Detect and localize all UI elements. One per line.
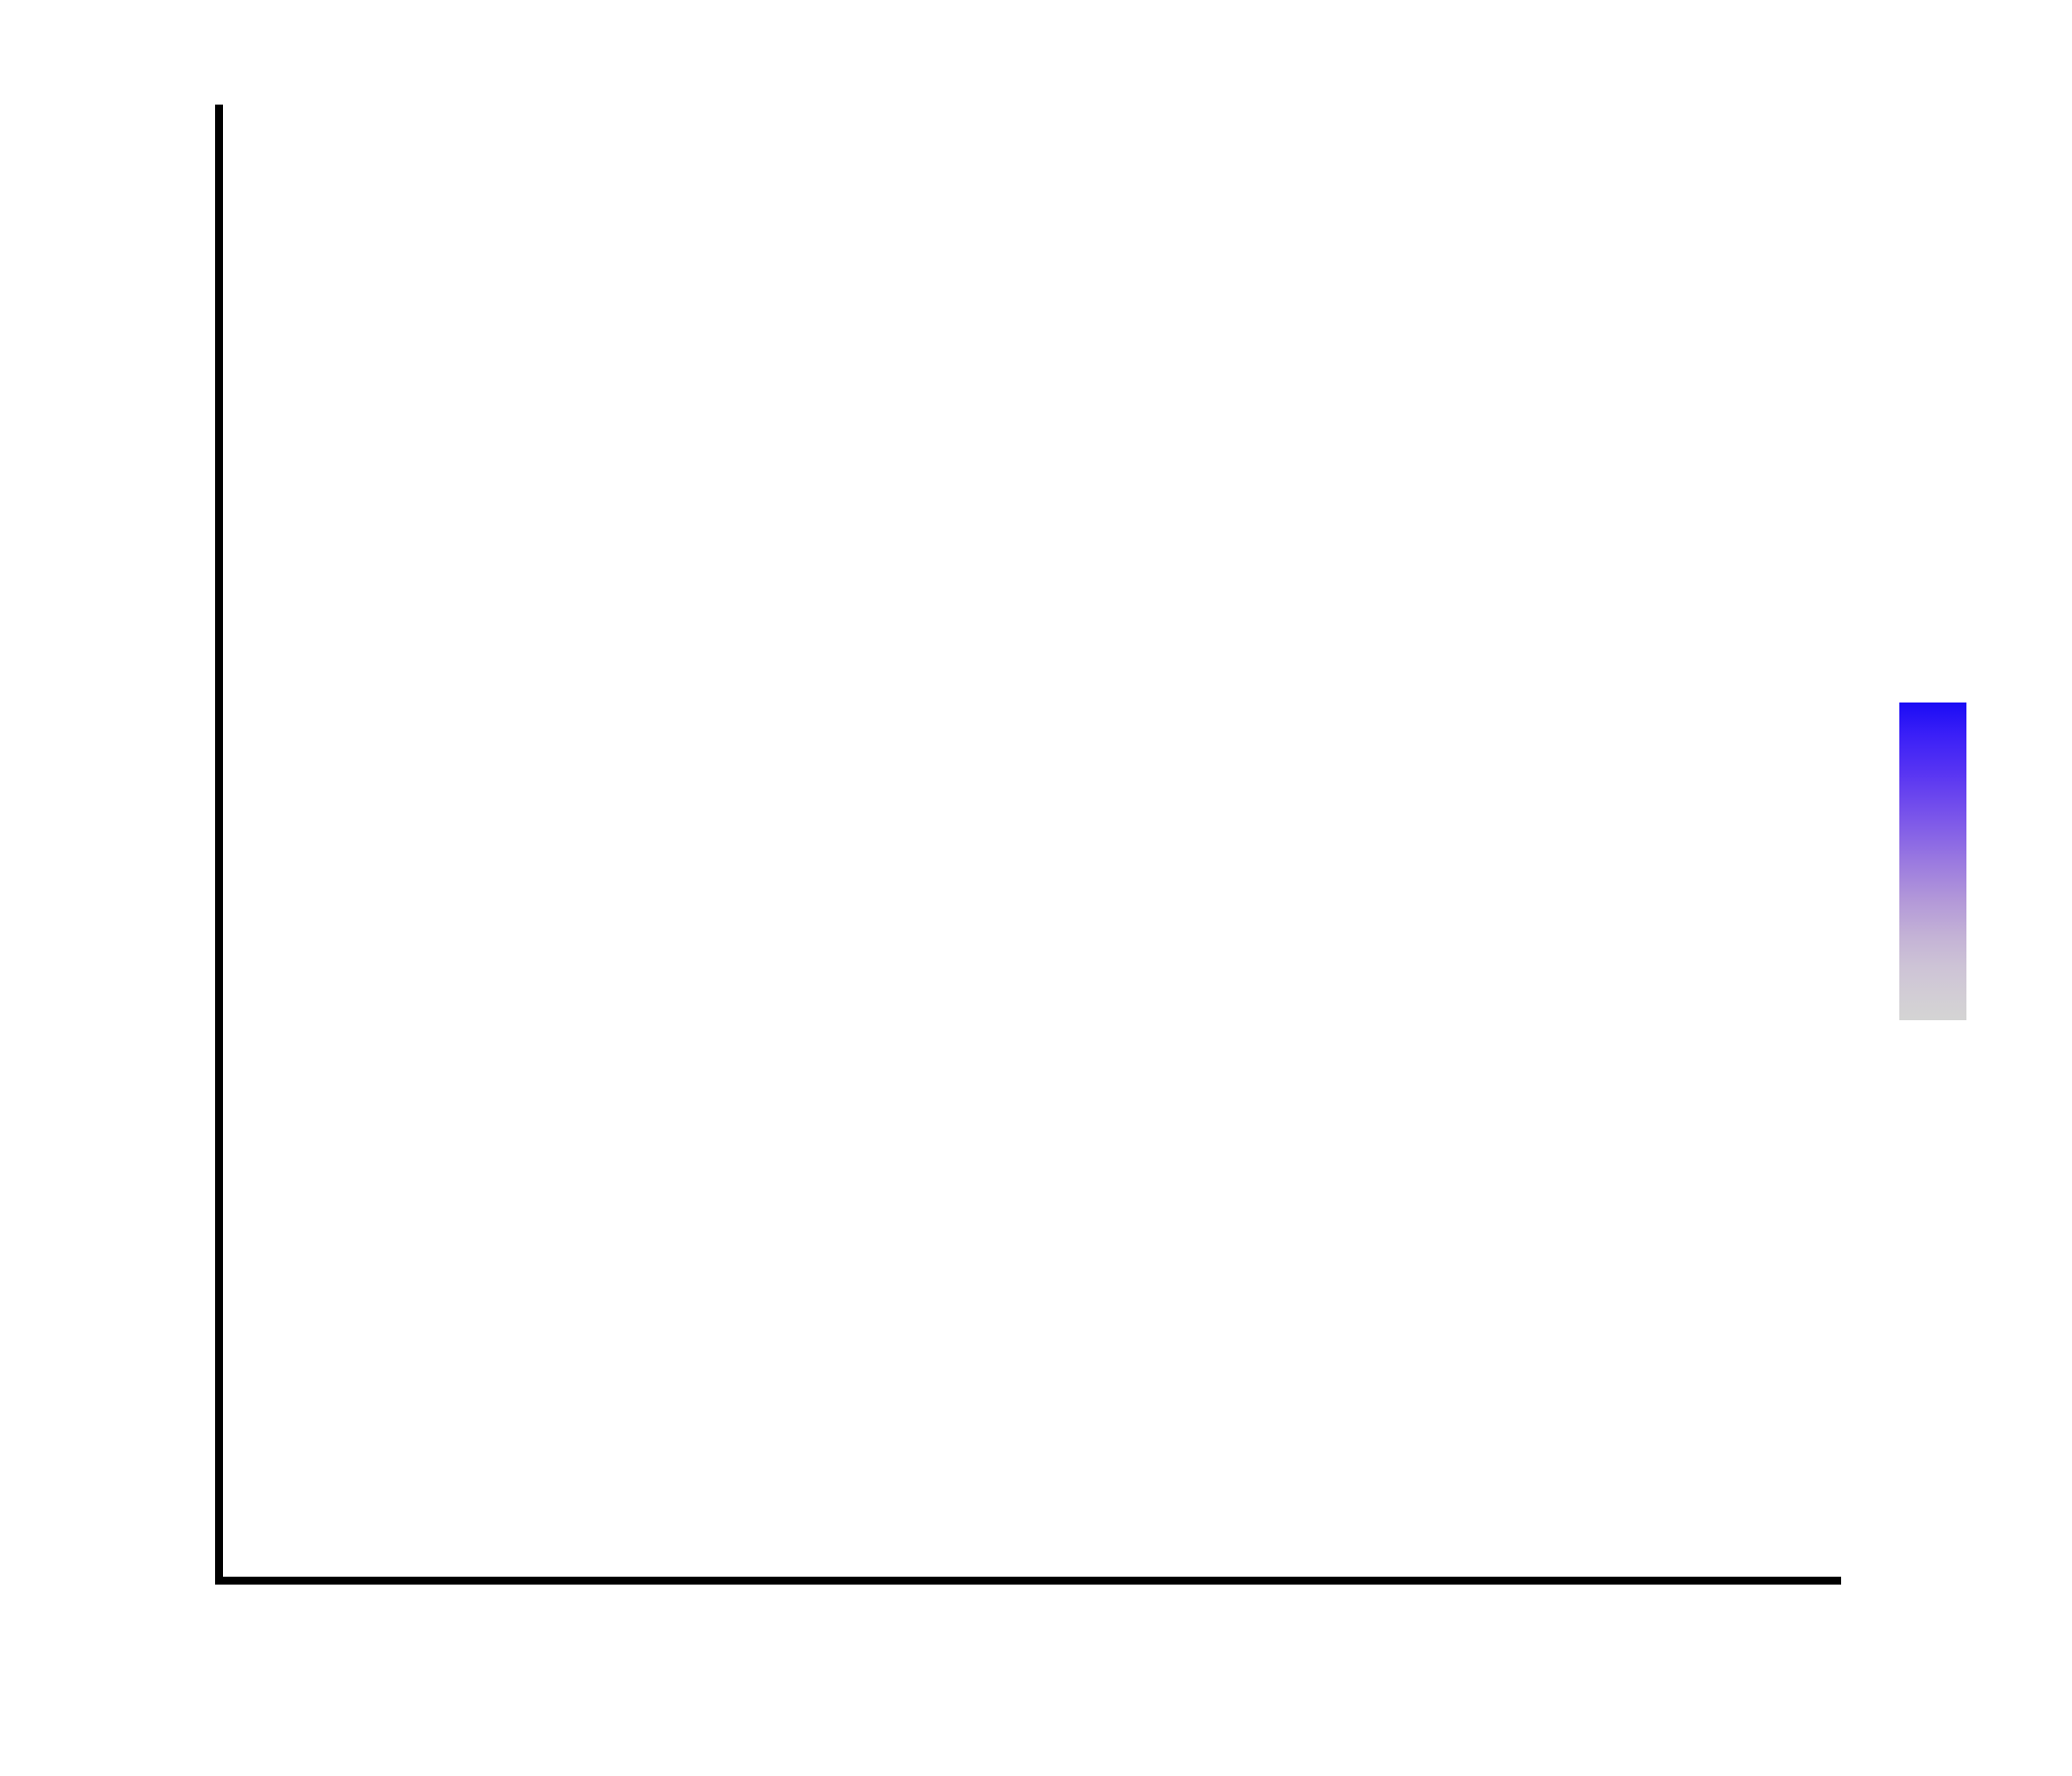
scatter-points-canvas	[223, 105, 1841, 1577]
y-axis-line	[215, 105, 223, 1585]
colorbar-gradient	[1899, 703, 1966, 1020]
x-axis-line	[215, 1577, 1841, 1585]
colorbar-legend	[1899, 703, 2047, 1024]
page-title	[0, 26, 2072, 90]
scatter-plot-area	[223, 105, 1841, 1577]
feature-plot-figure	[0, 0, 2072, 1776]
x-axis-title	[0, 1677, 2072, 1739]
